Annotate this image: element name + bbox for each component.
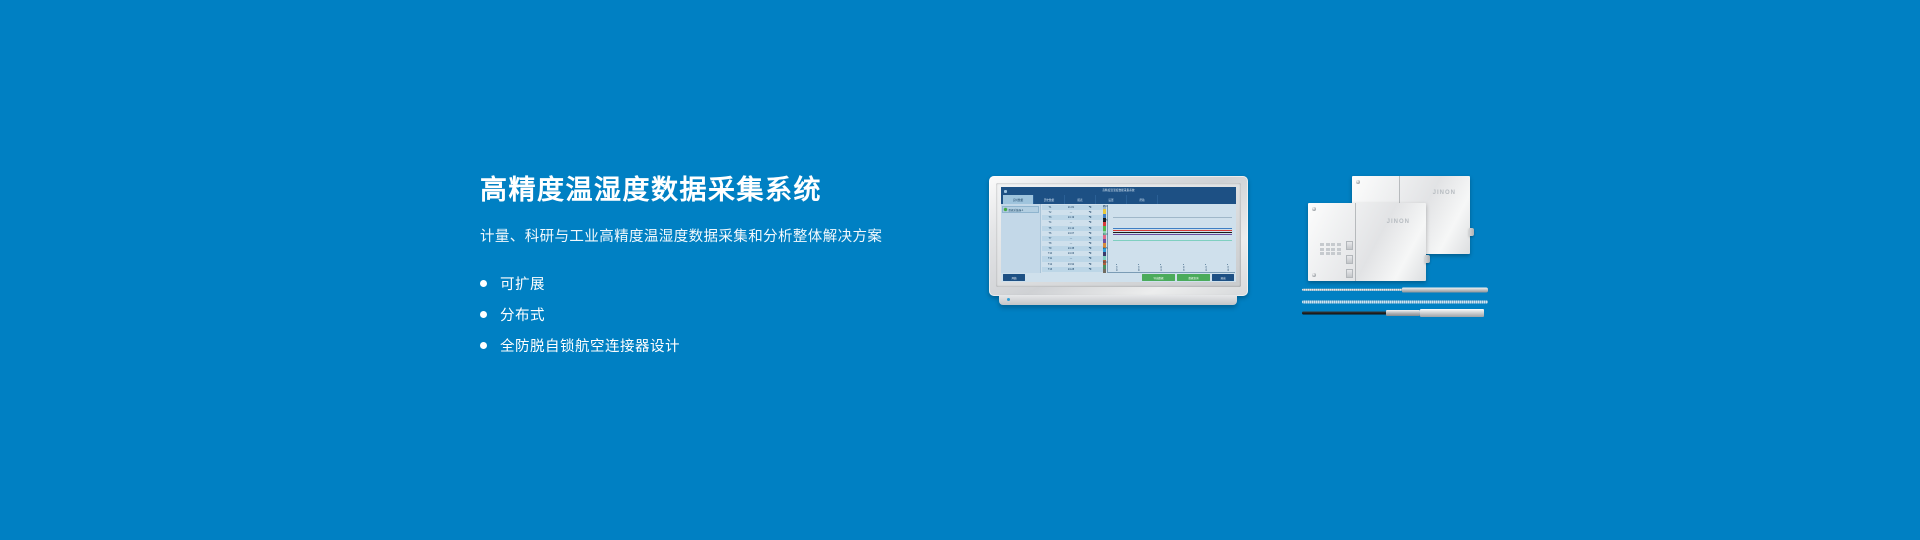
chart-series-line <box>1113 228 1232 229</box>
button-label: 导出数据 <box>1153 276 1163 280</box>
module-connectors <box>1346 241 1353 278</box>
module-port <box>1469 228 1474 236</box>
channel-name: T7 <box>1042 237 1058 240</box>
chart-x-tick-label: 10:00 <box>1115 266 1117 271</box>
channel-name: T8 <box>1042 242 1058 245</box>
list-item: 全防脱自锁航空连接器设计 <box>480 330 960 361</box>
channel-value: 24.12 <box>1058 227 1084 230</box>
channel-name: T10 <box>1042 252 1058 255</box>
probe-stainless <box>1302 286 1488 294</box>
app-tab-bar: 实时数据 历史数据 报表 设置 帮助 <box>1001 195 1236 204</box>
banner-copy: 高精度温湿度数据采集系统 计量、科研与工业高精度温湿度数据采集和分析整体解决方案… <box>480 175 960 361</box>
screw-icon <box>1312 273 1316 277</box>
channel-name: T5 <box>1042 227 1058 230</box>
channel-value: 24.38 <box>1058 247 1084 250</box>
bullet-dot-icon <box>480 342 487 349</box>
channel-name: T6 <box>1042 232 1058 235</box>
channel-value: --- <box>1058 242 1084 245</box>
chart-series-line <box>1113 217 1232 218</box>
tab-label: 实时数据 <box>1013 198 1023 202</box>
tab-settings[interactable]: 设置 <box>1096 195 1127 204</box>
channel-unit: ℃ <box>1084 237 1096 240</box>
channel-unit: ℃ <box>1084 257 1096 260</box>
channel-value: 24.19 <box>1058 216 1084 219</box>
chart-x-tick-label: 12:30 <box>1227 266 1229 271</box>
channel-value: 24.28 <box>1058 268 1084 271</box>
channel-unit: ℃ <box>1084 206 1096 209</box>
power-led-icon <box>1007 298 1010 301</box>
monitor-base <box>999 295 1237 305</box>
channel-unit: ℃ <box>1084 232 1096 235</box>
channel-name: T1 <box>1042 206 1058 209</box>
device-label: 数据采集器-1 <box>1009 208 1024 212</box>
probe-cable <box>1302 301 1488 304</box>
banner-subtitle: 计量、科研与工业高精度温湿度数据采集和分析整体解决方案 <box>480 225 960 246</box>
probe-body <box>1420 309 1484 317</box>
tab-history-data[interactable]: 历史数据 <box>1034 195 1065 204</box>
chart-y-tick-label: 24.0 <box>1103 233 1108 236</box>
channel-unit: ℃ <box>1084 247 1096 250</box>
screw-icon <box>1312 207 1316 211</box>
bullet-dot-icon <box>480 311 487 318</box>
button-label: 数据查询 <box>1188 276 1198 280</box>
chart-y-tick-label: 23.0 <box>1103 261 1108 264</box>
tab-label: 历史数据 <box>1044 198 1054 202</box>
chart-x-tick-label: 12:00 <box>1204 266 1206 271</box>
chart-y-tick-label: 23.5 <box>1103 247 1108 250</box>
status-led-icon <box>1004 208 1007 211</box>
probe-ferrule <box>1386 310 1420 316</box>
chart-y-tick-label: 24.5 <box>1103 219 1108 222</box>
chart-series-line <box>1113 232 1232 233</box>
module-label-grid <box>1320 243 1341 255</box>
hardware-group: JINON JINON <box>1300 176 1490 306</box>
channel-name: T12 <box>1042 263 1058 266</box>
acquisition-module-front: JINON <box>1308 203 1426 281</box>
monitor-inner-frame: 高精度温湿度数据采集系统 实时数据 历史数据 报表 设置 <box>996 183 1241 287</box>
channel-value: 24.06 <box>1058 252 1084 255</box>
page-title: 高精度温湿度数据采集系统 <box>480 175 960 206</box>
device-tree-node[interactable]: 数据采集器-1 <box>1002 206 1039 213</box>
probe-tip <box>1402 288 1488 293</box>
tab-label: 设置 <box>1108 198 1113 202</box>
channel-name: T11 <box>1042 257 1058 260</box>
probe-cable <box>1302 312 1390 315</box>
channel-unit: ℃ <box>1084 227 1096 230</box>
module-seam <box>1355 203 1356 281</box>
brand-logo: JINON <box>1387 219 1410 225</box>
export-data-button[interactable]: 导出数据 <box>1142 274 1175 281</box>
brand-logo: JINON <box>1433 190 1456 196</box>
chart-x-tick-label: 11:00 <box>1160 266 1162 271</box>
probe-sheathed <box>1302 298 1488 306</box>
channel-unit: ℃ <box>1084 242 1096 245</box>
channel-value: --- <box>1058 221 1084 224</box>
tab-label: 报表 <box>1077 198 1082 202</box>
trend-chart: 25.024.524.023.523.0 10:0010:3011:0011:3… <box>1107 205 1235 273</box>
channel-unit: ℃ <box>1084 211 1096 214</box>
probe-cable <box>1302 289 1406 291</box>
channel-value: 23.92 <box>1058 263 1084 266</box>
feature-label: 全防脱自锁航空连接器设计 <box>500 335 680 356</box>
exit-button[interactable]: 退出 <box>1212 274 1234 281</box>
channel-name: T3 <box>1042 216 1058 219</box>
product-banner: 高精度温湿度数据采集系统 计量、科研与工业高精度温湿度数据采集和分析整体解决方案… <box>0 0 1920 540</box>
channel-unit: ℃ <box>1084 263 1096 266</box>
channel-unit: ℃ <box>1084 252 1096 255</box>
channel-value: --- <box>1058 237 1084 240</box>
channel-unit: ℃ <box>1084 268 1096 271</box>
chart-plot-area <box>1108 205 1235 264</box>
channel-value: --- <box>1058 211 1084 214</box>
feature-label: 分布式 <box>500 304 545 325</box>
panel-pc-monitor: 高精度温湿度数据采集系统 实时数据 历史数据 报表 设置 <box>989 176 1248 296</box>
list-item: 可扩展 <box>480 268 960 299</box>
app-body: 数据采集器-1 T121.81℃T2---℃T324.19℃T4---℃T524… <box>1001 204 1236 273</box>
feature-list: 可扩展 分布式 全防脱自锁航空连接器设计 <box>480 268 960 361</box>
probe-black-cable <box>1302 309 1488 317</box>
tab-realtime-data[interactable]: 实时数据 <box>1003 195 1034 204</box>
chart-x-axis: 10:0010:3011:0011:3012:0012:30 <box>1108 264 1235 272</box>
channel-name: T2 <box>1042 211 1058 214</box>
channel-name: T4 <box>1042 221 1058 224</box>
feature-label: 可扩展 <box>500 273 545 294</box>
monitor-screen: 高精度温湿度数据采集系统 实时数据 历史数据 报表 设置 <box>1001 187 1236 282</box>
tab-label: 帮助 <box>1139 198 1144 202</box>
channel-unit: ℃ <box>1084 216 1096 219</box>
channel-value: 21.81 <box>1058 206 1084 209</box>
tab-help[interactable]: 帮助 <box>1127 195 1158 204</box>
channel-name: T9 <box>1042 247 1058 250</box>
button-label: 退出 <box>1220 276 1225 280</box>
chart-x-tick-label: 10:30 <box>1137 266 1139 271</box>
app-window-title: 高精度温湿度数据采集系统 <box>1001 187 1236 195</box>
channel-table: T121.81℃T2---℃T324.19℃T4---℃T524.12℃T624… <box>1041 204 1103 273</box>
chart-series-line <box>1113 234 1232 235</box>
app-footer-toolbar: 开始 导出数据 数据查询 退出 <box>1001 273 1236 282</box>
channel-name: T13 <box>1042 268 1058 271</box>
chart-y-axis-labels: 25.024.524.023.523.0 <box>1099 205 1108 264</box>
app-title-bar: 高精度温湿度数据采集系统 <box>1001 187 1236 195</box>
chart-series-line <box>1113 240 1232 241</box>
module-port <box>1425 255 1430 263</box>
channel-unit: ℃ <box>1084 221 1096 224</box>
list-item: 分布式 <box>480 299 960 330</box>
chart-y-tick-label: 25.0 <box>1103 205 1108 208</box>
chart-x-tick-label: 11:30 <box>1182 266 1184 271</box>
button-label: 开始 <box>1011 276 1016 280</box>
channel-value: --- <box>1058 257 1084 260</box>
screw-icon <box>1356 180 1360 184</box>
start-button[interactable]: 开始 <box>1003 274 1025 281</box>
query-data-button[interactable]: 数据查询 <box>1177 274 1210 281</box>
channel-value: 24.07 <box>1058 232 1084 235</box>
device-tree-panel: 数据采集器-1 <box>1001 204 1041 273</box>
tab-report[interactable]: 报表 <box>1065 195 1096 204</box>
bullet-dot-icon <box>480 280 487 287</box>
